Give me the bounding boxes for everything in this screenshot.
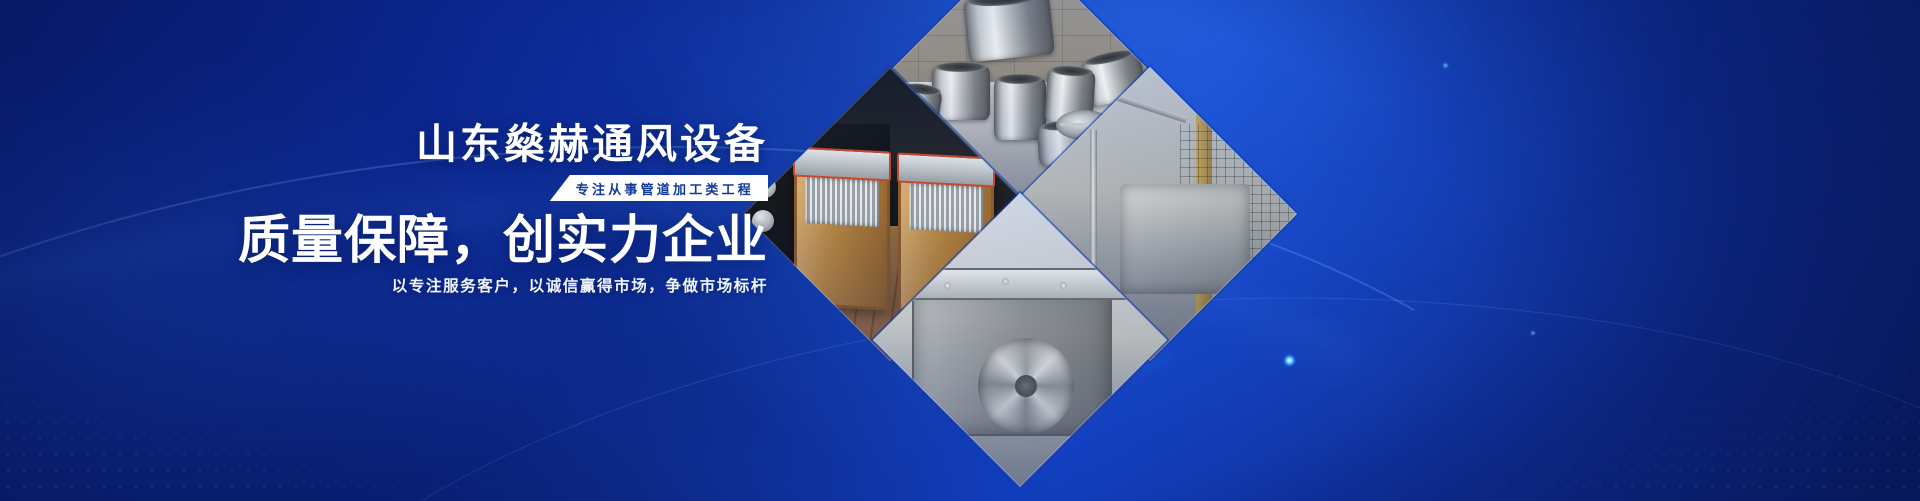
spark-dot-5: [1530, 330, 1536, 336]
ribbon-badge: 专注从事管道加工类工程: [550, 175, 768, 201]
banner-text-block: 山东燊赫通风设备 专注从事管道加工类工程 质量保障，创实力企业 以专注服务客户，…: [0, 0, 830, 501]
ribbon-label: 专注从事管道加工类工程: [576, 179, 754, 198]
spark-dot-2: [1283, 354, 1296, 367]
spark-dot-4: [1442, 62, 1449, 69]
dot-grid-right: [1400, 351, 1920, 501]
diamond-photo-collage: [800, 44, 1240, 388]
hero-banner: 山东燊赫通风设备 专注从事管道加工类工程 质量保障，创实力企业 以专注服务客户，…: [0, 0, 1920, 501]
tagline: 以专注服务客户，以诚信赢得市场，争做市场标杆: [392, 274, 768, 296]
brand-title: 山东燊赫通风设备: [416, 124, 768, 165]
headline: 质量保障，创实力企业: [238, 212, 768, 271]
